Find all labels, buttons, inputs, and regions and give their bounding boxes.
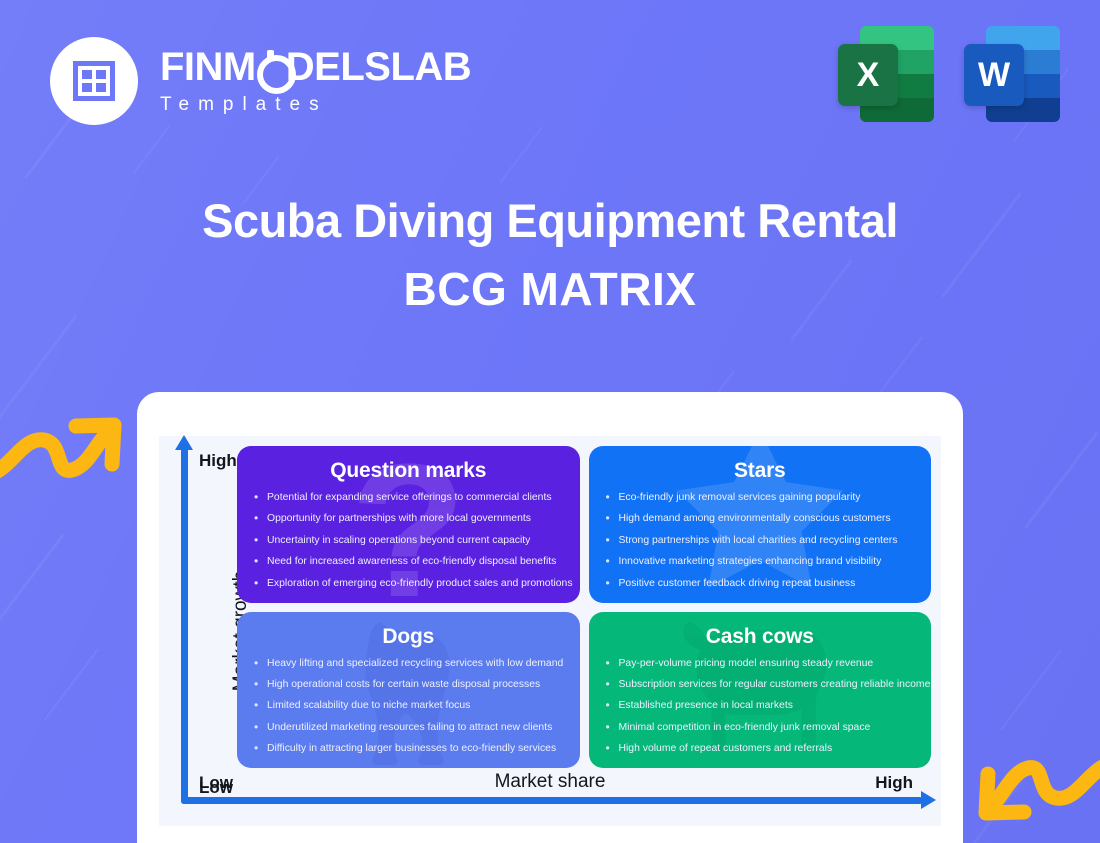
grid-logo-icon <box>50 37 138 125</box>
quadrant-title: Stars <box>605 459 916 483</box>
quadrant-bullet-list: Pay-per-volume pricing model ensuring st… <box>605 658 916 765</box>
list-item: Opportunity for partnerships with more l… <box>253 513 564 525</box>
list-item: Difficulty in attracting larger business… <box>253 743 564 755</box>
list-item: Underutilized marketing resources failin… <box>253 722 564 734</box>
quadrant-stars[interactable]: Stars Eco-friendly junk removal services… <box>589 446 932 603</box>
matrix-card: High Low Market growth Low High Market s… <box>137 392 963 843</box>
excel-icon-letter: X <box>838 44 898 106</box>
list-item: Strong partnerships with local charities… <box>605 535 916 547</box>
word-icon: W <box>964 26 1060 122</box>
excel-icon: X <box>838 26 934 122</box>
list-item: Established presence in local markets <box>605 700 916 712</box>
list-item: Uncertainty in scaling operations beyond… <box>253 535 564 547</box>
list-item: Positive customer feedback driving repea… <box>605 578 916 590</box>
list-item: Minimal competition in eco-friendly junk… <box>605 722 916 734</box>
quadrant-bullet-list: Eco-friendly junk removal services gaini… <box>605 492 916 599</box>
list-item: Subscription services for regular custom… <box>605 679 916 691</box>
quadrant-bullet-list: Potential for expanding service offering… <box>253 492 564 599</box>
squiggle-arrow-down-left-icon <box>973 748 1100 840</box>
list-item: Pay-per-volume pricing model ensuring st… <box>605 658 916 670</box>
bcg-matrix: High Low Market growth Low High Market s… <box>159 436 941 826</box>
y-axis-line <box>181 448 188 804</box>
quadrant-question-marks[interactable]: ? Question marks Potential for expanding… <box>237 446 580 603</box>
quadrant-grid: ? Question marks Potential for expanding… <box>237 446 931 768</box>
brand-name-first: FINM <box>160 45 256 89</box>
quadrant-bullet-list: Heavy lifting and specialized recycling … <box>253 658 564 765</box>
brand-name-rest: DELSLAB <box>286 45 471 89</box>
list-item: Need for increased awareness of eco-frie… <box>253 556 564 568</box>
quadrant-title: Question marks <box>253 459 564 483</box>
quadrant-dogs[interactable]: Dogs Heavy lifting and specialized recyc… <box>237 612 580 769</box>
list-item: Potential for expanding service offering… <box>253 492 564 504</box>
page-title: Scuba Diving Equipment Rental <box>0 193 1100 248</box>
squiggle-arrow-up-right-icon <box>0 398 127 490</box>
list-item: Eco-friendly junk removal services gaini… <box>605 492 916 504</box>
list-item: Heavy lifting and specialized recycling … <box>253 658 564 670</box>
brand-name: FINMDELSLAB <box>160 47 471 87</box>
format-icons: X W <box>838 26 1060 122</box>
brand-tagline: Templates <box>160 94 471 116</box>
list-item: High operational costs for certain waste… <box>253 679 564 691</box>
page-subtitle: BCG MATRIX <box>0 262 1100 316</box>
list-item: Limited scalability due to niche market … <box>253 700 564 712</box>
word-icon-letter: W <box>964 44 1024 106</box>
page-header: FINMDELSLAB Templates X W <box>0 0 1100 160</box>
quadrant-title: Cash cows <box>605 625 916 649</box>
list-item: High demand among environmentally consci… <box>605 513 916 525</box>
o-ring-icon <box>256 54 286 84</box>
quadrant-cash-cows[interactable]: Cash cows Pay-per-volume pricing model e… <box>589 612 932 769</box>
list-item: Innovative marketing strategies enhancin… <box>605 556 916 568</box>
title-block: Scuba Diving Equipment Rental BCG MATRIX <box>0 193 1100 316</box>
x-axis-label: Market share <box>159 771 941 793</box>
list-item: Exploration of emerging eco-friendly pro… <box>253 578 564 590</box>
list-item: High volume of repeat customers and refe… <box>605 743 916 755</box>
brand-logo: FINMDELSLAB Templates <box>50 37 471 125</box>
x-axis-line <box>181 797 923 804</box>
quadrant-title: Dogs <box>253 625 564 649</box>
